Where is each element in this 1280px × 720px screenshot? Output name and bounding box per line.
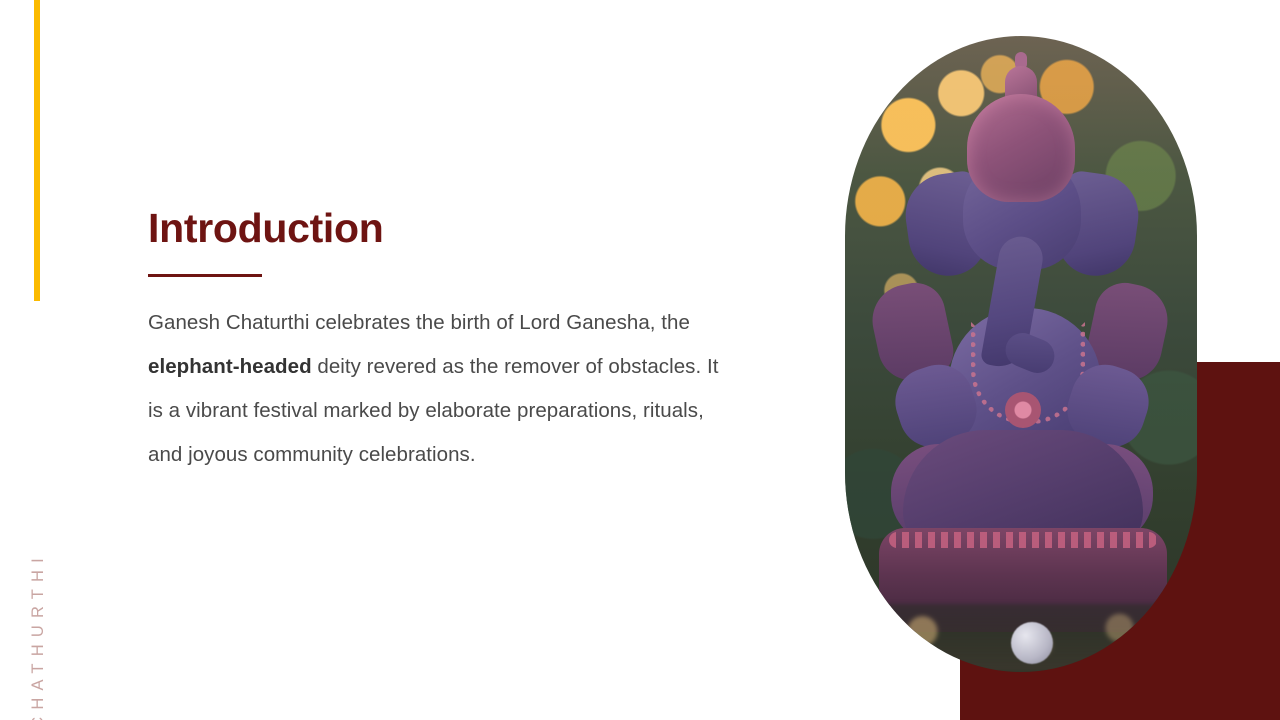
body-paragraph: Ganesh Chaturthi celebrates the birth of… — [148, 301, 738, 477]
photo-background-bokeh — [845, 36, 1197, 672]
page-title: Introduction — [148, 206, 748, 252]
necklace-medallion — [1005, 392, 1041, 428]
yellow-accent-bar — [34, 0, 40, 301]
text-content-block: Introduction Ganesh Chaturthi celebrates… — [148, 206, 748, 477]
body-text-part-1: Ganesh Chaturthi celebrates the birth of… — [148, 311, 690, 334]
crown-headdress — [967, 94, 1075, 202]
ganesha-statue-figure — [845, 36, 1197, 672]
vertical-side-label-text: GANESH CHATHURTHI — [30, 551, 47, 720]
body-text-emphasis: elephant-headed — [148, 355, 312, 378]
vertical-side-label: GANESH CHATHURTHI — [0, 300, 76, 710]
title-underline-rule — [148, 274, 262, 277]
pedestal-bead-row — [889, 532, 1157, 548]
ganesha-statue-photo — [845, 36, 1197, 672]
slide-canvas: GANESH CHATHURTHI Introduction Ganesh Ch… — [0, 0, 1280, 720]
white-orb-decoration — [1011, 622, 1053, 664]
